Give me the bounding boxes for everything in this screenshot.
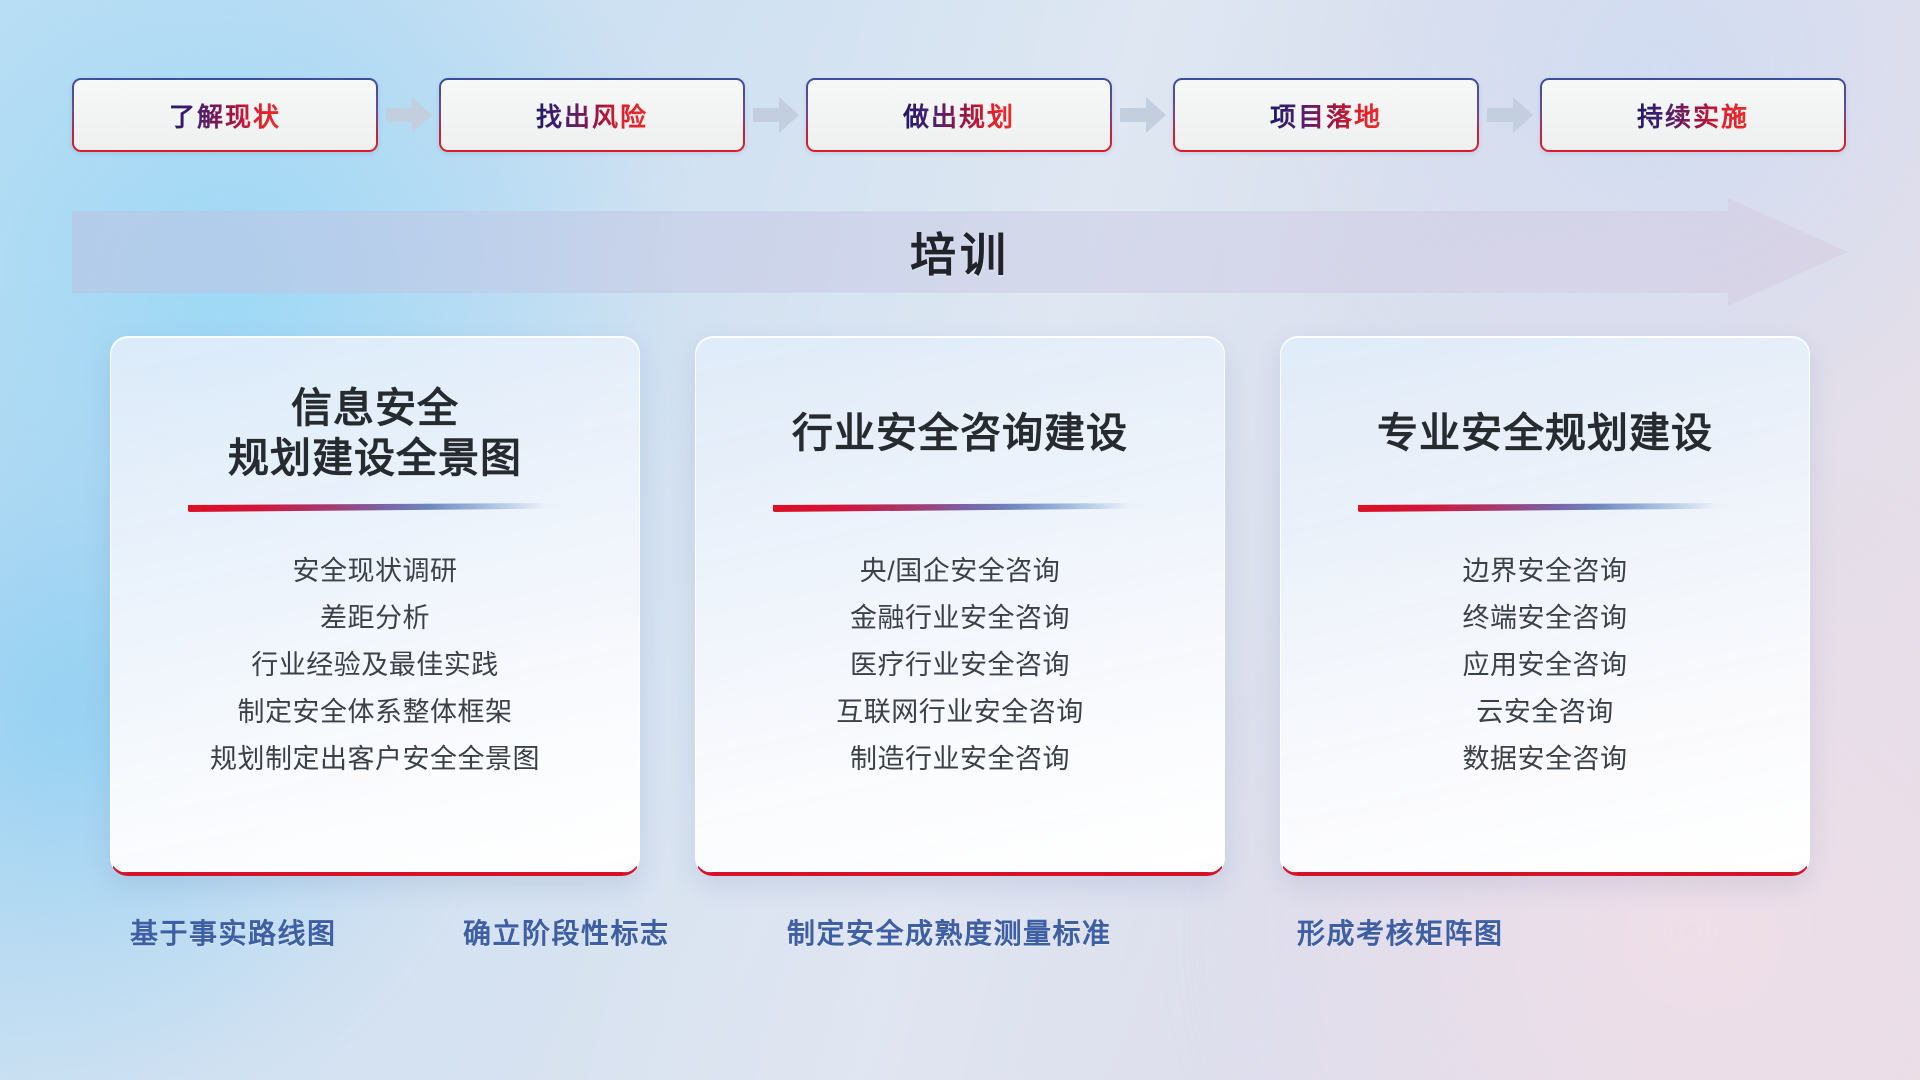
list-item: 安全现状调研: [139, 548, 611, 595]
card-3-divider: [1358, 503, 1732, 512]
card-industry-security-consulting[interactable]: 行业安全咨询建设 央/国企安全咨询 金融行业安全咨询 医疗行业安全咨询 互联网行…: [695, 336, 1225, 876]
card-2-inner: 行业安全咨询建设 央/国企安全咨询 金融行业安全咨询 医疗行业安全咨询 互联网行…: [696, 337, 1224, 873]
list-item: 金融行业安全咨询: [724, 595, 1196, 642]
card-3-inner: 专业安全规划建设 边界安全咨询 终端安全咨询 应用安全咨询 云安全咨询 数据安全…: [1281, 337, 1809, 873]
card-1-inner: 信息安全 规划建设全景图 安全现状调研 差距分析 行业经验及最佳实践 制定安全体…: [111, 337, 639, 873]
caption-assessment-matrix: 形成考核矩阵图: [1297, 912, 1504, 952]
training-banner: 培训: [72, 198, 1848, 306]
list-item: 边界安全咨询: [1309, 548, 1781, 595]
list-item: 终端安全咨询: [1309, 595, 1781, 642]
list-item: 制定安全体系整体框架: [139, 689, 611, 736]
list-item: 云安全咨询: [1309, 689, 1781, 736]
step-box-5-inner: 持续实施: [1542, 80, 1844, 150]
card-2-title: 行业安全咨询建设: [792, 381, 1128, 485]
step-label-3: 做出规划: [903, 97, 1015, 134]
step-label-4: 项目落地: [1270, 97, 1382, 134]
list-item: 行业经验及最佳实践: [139, 642, 611, 689]
card-1-list: 安全现状调研 差距分析 行业经验及最佳实践 制定安全体系整体框架 规划制定出客户…: [139, 548, 611, 783]
caption-milestones: 确立阶段性标志: [463, 912, 670, 952]
caption-roadmap: 基于事实路线图: [130, 912, 337, 952]
step-label-5: 持续实施: [1637, 97, 1749, 134]
chevron-right-arrow-icon: [378, 78, 439, 152]
card-1-title: 信息安全 规划建设全景图: [228, 381, 522, 485]
banner-title: 培训: [72, 219, 1848, 285]
card-professional-security-planning[interactable]: 专业安全规划建设 边界安全咨询 终端安全咨询 应用安全咨询 云安全咨询 数据安全…: [1280, 336, 1810, 876]
step-box-1[interactable]: 了解现状: [72, 78, 378, 152]
chevron-right-arrow-icon: [1479, 78, 1540, 152]
card-row: 信息安全 规划建设全景图 安全现状调研 差距分析 行业经验及最佳实践 制定安全体…: [110, 336, 1810, 876]
card-3-title: 专业安全规划建设: [1377, 381, 1713, 485]
step-box-3[interactable]: 做出规划: [806, 78, 1112, 152]
step-box-5[interactable]: 持续实施: [1540, 78, 1846, 152]
list-item: 互联网行业安全咨询: [724, 689, 1196, 736]
slide-canvas: 了解现状 找出风险 做出规划: [0, 0, 1920, 1080]
step-box-4[interactable]: 项目落地: [1173, 78, 1479, 152]
list-item: 央/国企安全咨询: [724, 548, 1196, 595]
list-item: 应用安全咨询: [1309, 642, 1781, 689]
list-item: 制造行业安全咨询: [724, 736, 1196, 783]
step-box-4-inner: 项目落地: [1175, 80, 1477, 150]
card-1-divider: [188, 503, 562, 512]
chevron-right-arrow-icon: [1112, 78, 1173, 152]
chevron-right-arrow-icon: [745, 78, 806, 152]
step-box-3-inner: 做出规划: [808, 80, 1110, 150]
step-box-2[interactable]: 找出风险: [439, 78, 745, 152]
list-item: 数据安全咨询: [1309, 736, 1781, 783]
step-label-1: 了解现状: [169, 97, 281, 134]
card-2-list: 央/国企安全咨询 金融行业安全咨询 医疗行业安全咨询 互联网行业安全咨询 制造行…: [724, 548, 1196, 783]
list-item: 差距分析: [139, 595, 611, 642]
step-label-2: 找出风险: [536, 97, 648, 134]
list-item: 规划制定出客户安全全景图: [139, 736, 611, 783]
process-step-row: 了解现状 找出风险 做出规划: [72, 78, 1848, 152]
caption-row: 基于事实路线图 确立阶段性标志 制定安全成熟度测量标准 形成考核矩阵图: [0, 912, 1920, 966]
step-box-2-inner: 找出风险: [441, 80, 743, 150]
caption-maturity-standard: 制定安全成熟度测量标准: [787, 912, 1112, 952]
card-2-divider: [773, 503, 1147, 512]
step-box-1-inner: 了解现状: [74, 80, 376, 150]
card-3-list: 边界安全咨询 终端安全咨询 应用安全咨询 云安全咨询 数据安全咨询: [1309, 548, 1781, 783]
card-information-security-panorama[interactable]: 信息安全 规划建设全景图 安全现状调研 差距分析 行业经验及最佳实践 制定安全体…: [110, 336, 640, 876]
list-item: 医疗行业安全咨询: [724, 642, 1196, 689]
